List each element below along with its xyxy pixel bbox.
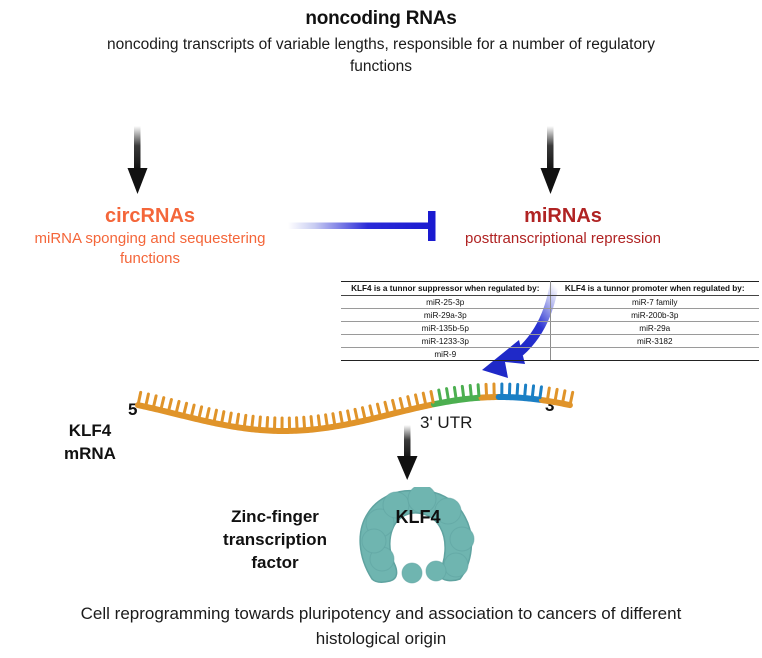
table-row: miR-9 [341,348,759,361]
arrow-down-to-circrnas [128,126,148,194]
table-cell: miR-29a [550,322,759,335]
table-row: miR-29a-3pmiR-200b-3p [341,309,759,322]
table-row: miR-1233-3pmiR-3182 [341,335,759,348]
table-cell: miR-25-3p [341,296,550,309]
mirna-regulation-table: KLF4 is a tunnor suppressor when regulat… [341,281,759,361]
arrow-down-to-mirnas [541,126,561,194]
klf4-mrna-strand [130,368,600,458]
klf4-protein-shape [352,487,482,587]
table-cell: miR-200b-3p [550,309,759,322]
table-cell: miR-3182 [550,335,759,348]
table-cell [550,348,759,361]
table-header-cell: KLF4 is a tunnor suppressor when regulat… [341,282,550,296]
table-cell: miR-29a-3p [341,309,550,322]
table-cell: miR-9 [341,348,550,361]
table-cell: miR-135b-5p [341,322,550,335]
table-header-cell: KLF4 is a tunnor promoter when regulated… [550,282,759,296]
table-row: miR-25-3pmiR-7 family [341,296,759,309]
table-row: miR-135b-5pmiR-29a [341,322,759,335]
table-cell: miR-1233-3p [341,335,550,348]
table-cell: miR-7 family [550,296,759,309]
table-header-row: KLF4 is a tunnor suppressor when regulat… [341,282,759,296]
inhibition-arrow-circrna-to-mirna [288,211,436,241]
klf4-protein-label: KLF4 [368,507,468,528]
